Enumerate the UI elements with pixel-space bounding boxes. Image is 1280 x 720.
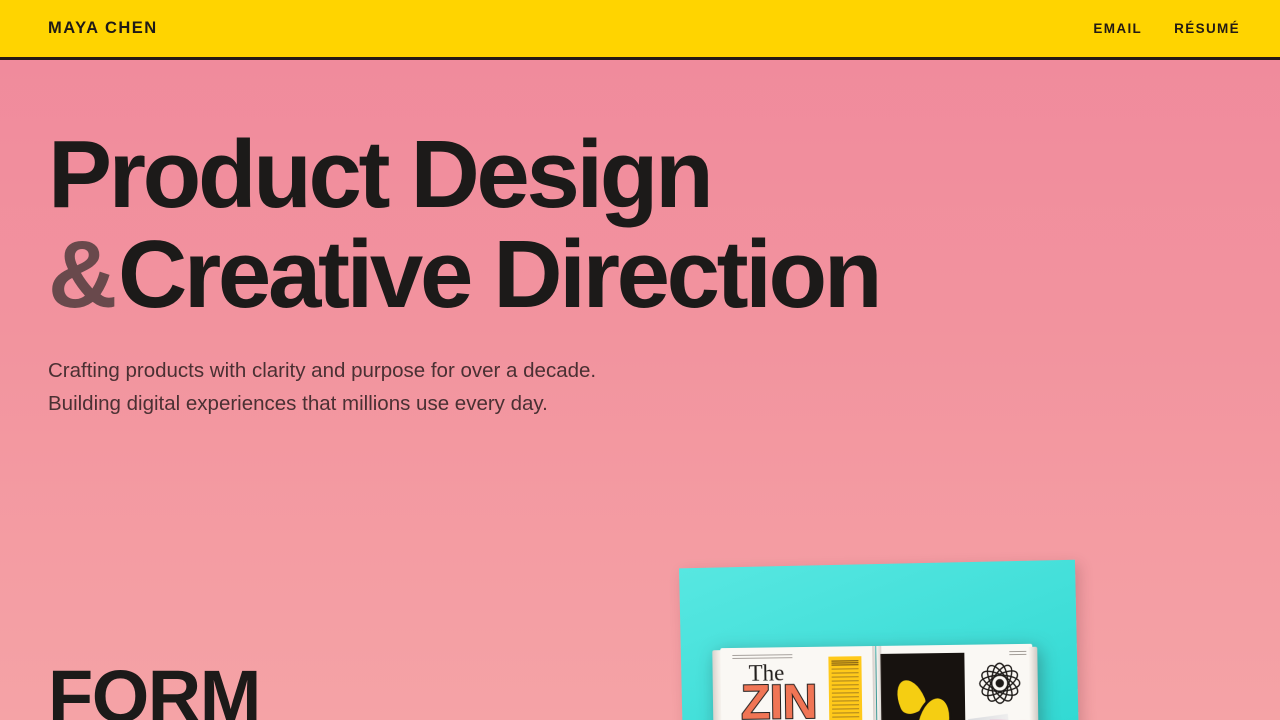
page-number-lines — [1009, 651, 1026, 655]
black-illustration-panel — [880, 653, 965, 720]
magazine-left-page: The ZIN — [720, 646, 877, 720]
nav-link-resume[interactable]: RÉSUMÉ — [1174, 21, 1240, 36]
book-spine-shadow — [872, 646, 883, 720]
site-header: MAYA CHEN EMAIL RÉSUMÉ — [0, 0, 1280, 60]
sidebar-heading-lines — [831, 660, 858, 665]
sidebar-body-lines — [832, 668, 860, 720]
hero-heading: Product Design &Creative Direction — [48, 126, 879, 324]
hero-subtitle-line-1: Crafting products with clarity and purpo… — [48, 355, 596, 388]
magazine-right-page — [876, 644, 1034, 720]
portfolio-page: MAYA CHEN EMAIL RÉSUMÉ Product Design &C… — [0, 0, 1280, 720]
hero-ampersand: & — [48, 221, 118, 328]
zine-photograph: The ZIN — [665, 556, 1095, 720]
atom-diagram-icon — [976, 660, 1023, 707]
hero-subtitle: Crafting products with clarity and purpo… — [48, 355, 596, 421]
hero-heading-line-2-text: Creative Direction — [118, 221, 879, 328]
nav-link-email[interactable]: EMAIL — [1093, 21, 1142, 36]
book-page-edge-right — [1028, 647, 1038, 720]
hero-heading-line-1: Product Design — [48, 126, 879, 224]
brand-wordmark[interactable]: MAYA CHEN — [48, 19, 158, 38]
primary-navigation: EMAIL RÉSUMÉ — [1093, 21, 1240, 36]
hero-heading-line-2: &Creative Direction — [48, 226, 879, 324]
open-magazine: The ZIN — [712, 644, 1039, 720]
magazine-yellow-sidebar — [828, 656, 862, 720]
zine-title-text: ZIN — [741, 679, 818, 720]
hero-subtitle-line-2: Building digital experiences that millio… — [48, 388, 596, 421]
section-heading-form: FORM — [48, 660, 260, 720]
magazine-masthead-lines — [732, 654, 792, 659]
